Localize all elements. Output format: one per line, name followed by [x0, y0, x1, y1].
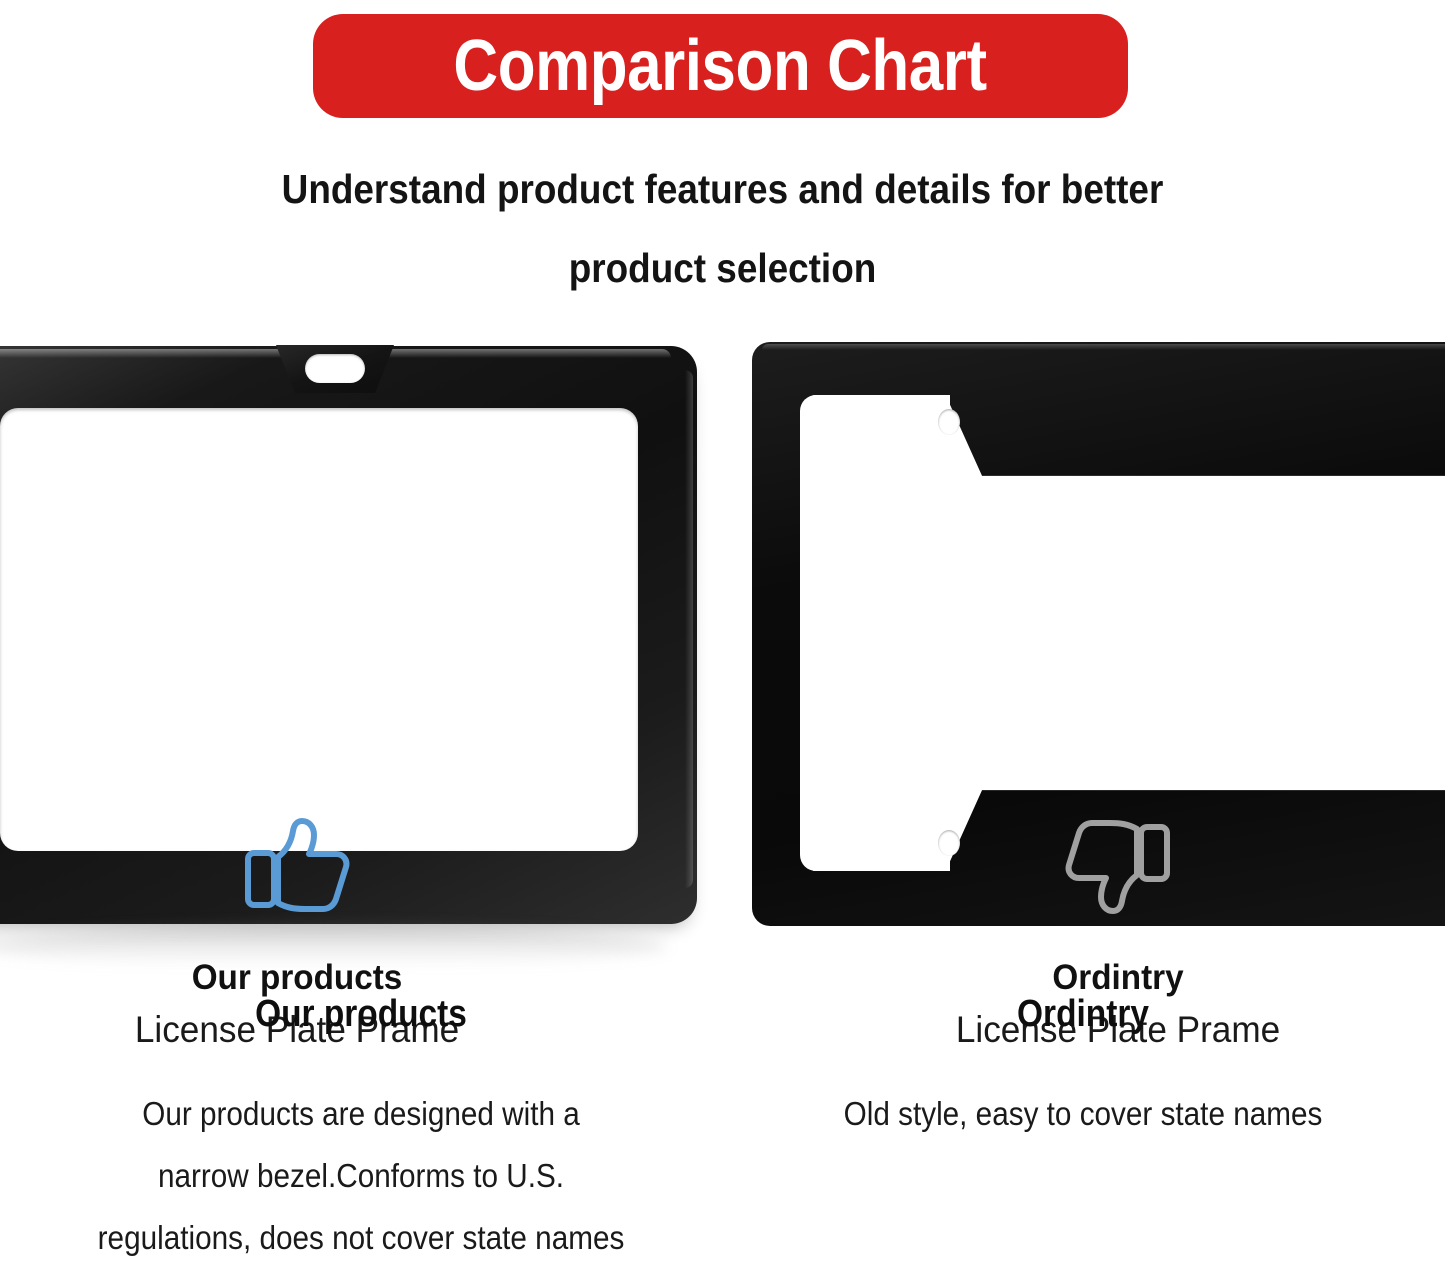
- our-products-description-line-2: narrow bezel.Conforms to U.S.: [36, 1145, 686, 1207]
- ordinary-product-caption-title: Ordintry: [852, 959, 1384, 998]
- our-products-description-line-3: regulations, does not cover state names: [36, 1207, 686, 1269]
- frame-left-mounting-tab: [276, 345, 394, 393]
- our-products-description: Our products are designed with a narrow …: [36, 1083, 686, 1269]
- frame-left-mounting-slot: [305, 354, 365, 383]
- page-subtitle: Understand product features and details …: [0, 150, 1445, 308]
- product-comparison-stage: Our products License Plate Prame Ordintr…: [0, 330, 1445, 970]
- frame-right-window-left-round: [800, 395, 950, 871]
- ordintry-description: Old style, easy to cover state names: [758, 1083, 1408, 1145]
- ordintry-heading: Ordintry: [765, 995, 1400, 1033]
- page-title: Comparison Chart: [454, 30, 987, 102]
- our-products-description-line-1: Our products are designed with a: [36, 1083, 686, 1145]
- subtitle-line-1: Understand product features and details …: [72, 150, 1373, 229]
- frame-right-top-screw-hole: [938, 409, 960, 435]
- subtitle-line-2: product selection: [72, 229, 1373, 308]
- frame-left-window-cutout: [0, 408, 638, 851]
- our-products-heading: Our products: [43, 995, 678, 1033]
- comparison-column-ordintry: Ordintry Old style, easy to cover state …: [722, 995, 1444, 1262]
- our-product-caption-title: Our products: [31, 959, 563, 998]
- ordintry-description-line-1: Old style, easy to cover state names: [758, 1083, 1408, 1145]
- comparison-chart-title-banner: Comparison Chart: [313, 14, 1128, 118]
- comparison-column-our-products: Our products Our products are designed w…: [0, 995, 722, 1262]
- comparison-description-row: Our products Our products are designed w…: [0, 995, 1445, 1262]
- thumbs-down-icon: [1064, 815, 1172, 917]
- thumbs-up-icon: [243, 815, 351, 917]
